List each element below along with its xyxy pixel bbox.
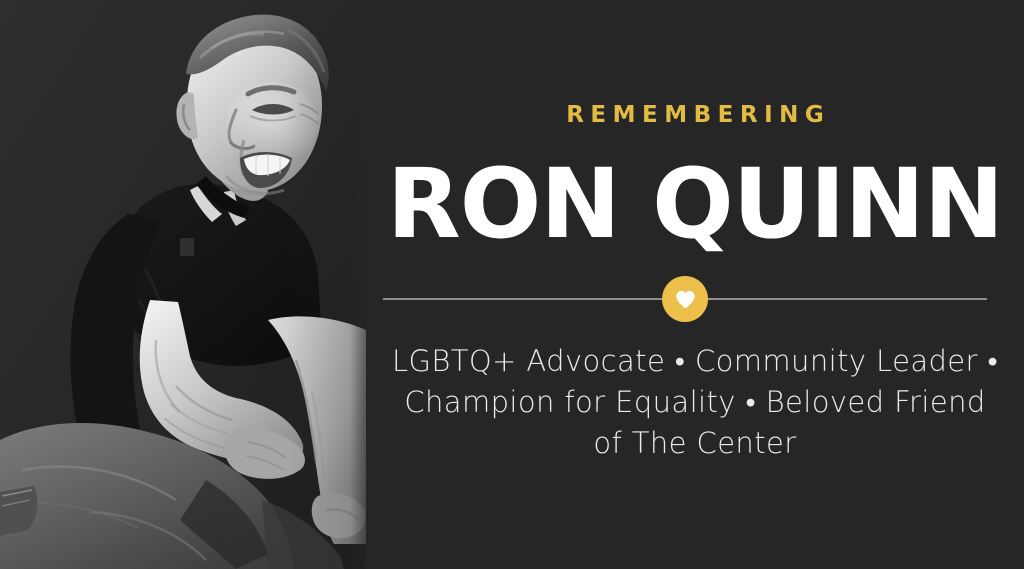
banner-content: REMEMBERING RON QUINN LGBTQ+ Advocate • … — [366, 0, 1024, 569]
portrait-photo — [0, 0, 366, 569]
heart-icon — [675, 290, 696, 309]
eyebrow-label: REMEMBERING — [366, 104, 1024, 127]
subtitle-text: LGBTQ+ Advocate • Community Leader • Cha… — [386, 341, 1004, 464]
shirt-logo — [180, 238, 194, 256]
page-title: RON QUINN — [366, 156, 1024, 252]
portrait-photo-image — [0, 0, 366, 569]
heart-medallion — [662, 276, 708, 322]
memorial-banner: REMEMBERING RON QUINN LGBTQ+ Advocate • … — [0, 0, 1024, 569]
divider — [383, 276, 987, 322]
